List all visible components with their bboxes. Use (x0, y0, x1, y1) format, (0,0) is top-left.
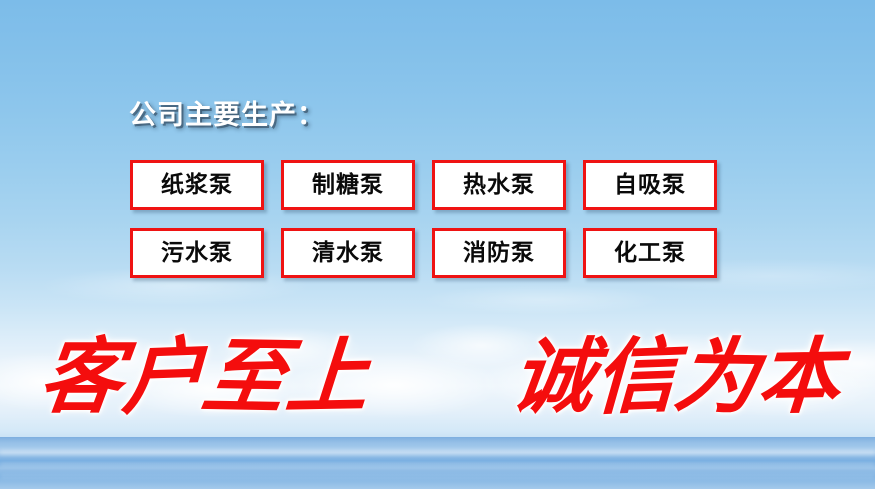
product-chip-label: 制糖泵 (312, 174, 384, 197)
product-chip[interactable]: 污水泵 (130, 228, 264, 278)
product-chip-label: 化工泵 (614, 242, 686, 265)
product-chip-label: 纸浆泵 (161, 174, 233, 197)
promo-banner: 公司主要生产： 纸浆泵 制糖泵 热水泵 自吸泵 污水泵 清水泵 消防泵 化工泵 … (0, 0, 875, 489)
product-chip[interactable]: 清水泵 (281, 228, 415, 278)
product-chip[interactable]: 热水泵 (432, 160, 566, 210)
product-chip-label: 热水泵 (463, 174, 535, 197)
product-chip-label: 清水泵 (312, 242, 384, 265)
product-chip[interactable]: 纸浆泵 (130, 160, 264, 210)
product-chip[interactable]: 自吸泵 (583, 160, 717, 210)
product-chip[interactable]: 消防泵 (432, 228, 566, 278)
product-chip[interactable]: 制糖泵 (281, 160, 415, 210)
product-chip-grid: 纸浆泵 制糖泵 热水泵 自吸泵 污水泵 清水泵 消防泵 化工泵 (130, 160, 717, 278)
page-title: 公司主要生产： (129, 93, 325, 132)
product-chip[interactable]: 化工泵 (583, 228, 717, 278)
product-chip-label: 污水泵 (161, 242, 233, 265)
product-chip-label: 消防泵 (463, 242, 535, 265)
product-chip-label: 自吸泵 (614, 174, 686, 197)
